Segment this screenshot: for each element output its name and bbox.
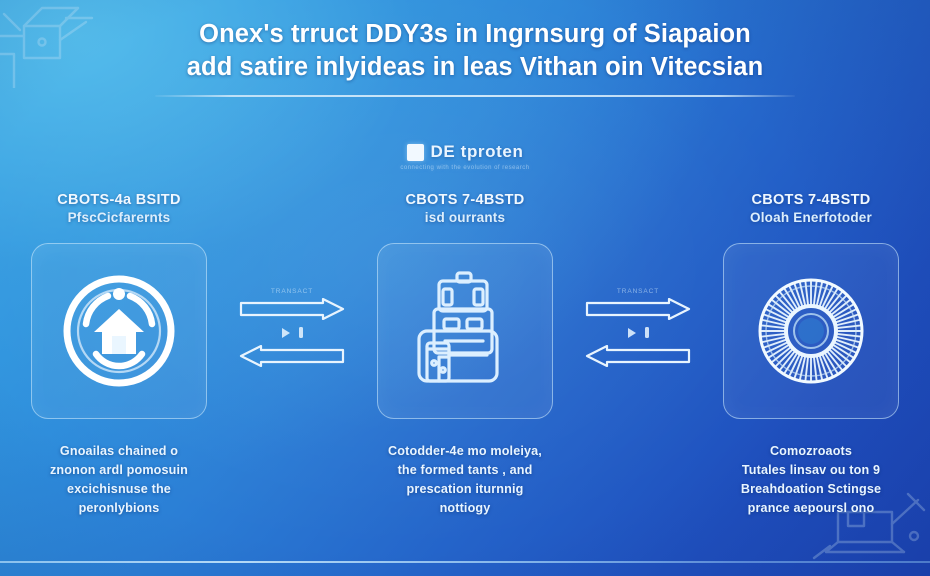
arrow-left-icon <box>585 345 691 367</box>
play-icon <box>282 328 290 338</box>
stage-1-heading: CBOTS-4a BSITD PfscCicfarernts <box>57 192 180 232</box>
brand-name: DE tproten <box>431 142 524 162</box>
bottom-accent-line <box>0 561 930 564</box>
circular-emblem-home-icon <box>60 272 178 390</box>
slide-canvas: Onex's trruct DDY3s in Ingrnsurg of Siap… <box>0 0 930 576</box>
radial-turbine-wheel-icon <box>750 270 872 392</box>
stage-2-caption: Cotodder-4e mo moleiya, the formed tants… <box>345 442 585 518</box>
pause-bar-icon <box>299 327 303 338</box>
stage-1-heading-line2: PfscCicfarernts <box>57 210 180 226</box>
stage-2[interactable]: CBOTS 7-4BSTD isd ourrants <box>345 192 585 518</box>
stage-2-card[interactable] <box>377 243 553 419</box>
stage-2-heading-line2: isd ourrants <box>405 210 524 226</box>
stage-3-caption: Comozroaots Tutales linsav ou ton 9 Brea… <box>691 442 930 518</box>
stage-3[interactable]: CBOTS 7-4BSTD Oloah Enerfotoder Comozroa… <box>691 192 930 518</box>
pause-bar-icon <box>645 327 649 338</box>
brand-lockup: DE tproten connecting with the evolution… <box>0 142 930 171</box>
stage-row: CBOTS-4a BSITD PfscCicfarernts <box>0 192 930 542</box>
outline-device-sketch-icon <box>0 0 110 88</box>
stage-2-heading: CBOTS 7-4BSTD isd ourrants <box>405 192 524 232</box>
stage-3-card[interactable] <box>723 243 899 419</box>
stage-1-card[interactable] <box>31 243 207 419</box>
connector-1: transact <box>239 192 345 367</box>
brand-row: DE tproten <box>407 142 524 162</box>
stage-3-heading-line2: Oloah Enerfotoder <box>750 210 872 226</box>
arrow-left-icon <box>239 345 345 367</box>
stage-1[interactable]: CBOTS-4a BSITD PfscCicfarernts <box>0 192 239 518</box>
arrow-right-icon <box>239 298 345 320</box>
stage-2-heading-line1: CBOTS 7-4BSTD <box>405 192 524 210</box>
stage-1-caption: Gnoailas chained o znonon ardl pomosuin … <box>0 442 239 518</box>
title-underline <box>155 95 795 97</box>
connector-2-label: transact <box>617 288 659 295</box>
square-logo-mark-icon <box>407 144 424 161</box>
robot-server-document-icon <box>403 269 527 393</box>
header: Onex's trruct DDY3s in Ingrnsurg of Siap… <box>130 18 820 97</box>
brand-tagline: connecting with the evolution of researc… <box>400 165 529 171</box>
connector-1-label: transact <box>271 288 313 295</box>
play-icon <box>628 328 636 338</box>
stage-3-heading-line1: CBOTS 7-4BSTD <box>750 192 872 210</box>
arrow-right-icon <box>585 298 691 320</box>
page-title: Onex's trruct DDY3s in Ingrnsurg of Siap… <box>130 18 820 84</box>
connector-2-midpoint <box>628 327 649 338</box>
stage-1-heading-line1: CBOTS-4a BSITD <box>57 192 180 210</box>
connector-2: transact <box>585 192 691 367</box>
stage-3-heading: CBOTS 7-4BSTD Oloah Enerfotoder <box>750 192 872 232</box>
connector-1-midpoint <box>282 327 303 338</box>
